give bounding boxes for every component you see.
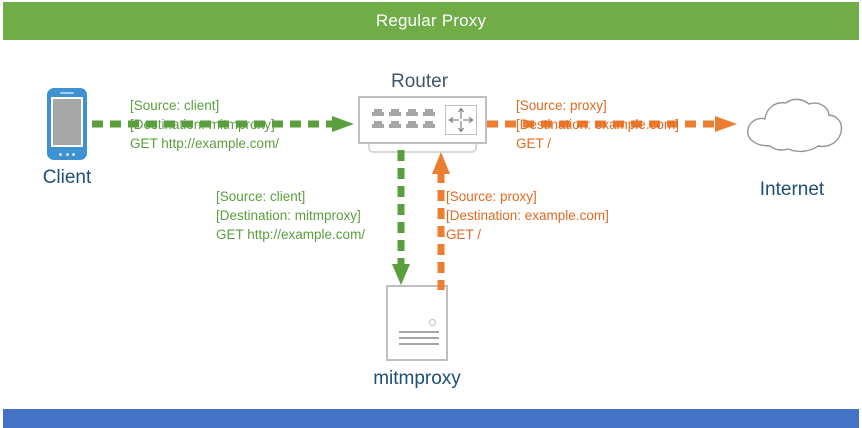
- title-banner: Regular Proxy: [3, 2, 859, 40]
- phone-screen: [51, 97, 83, 147]
- message-line-request: GET http://example.com/: [130, 134, 279, 153]
- message-line-source: [Source: client]: [216, 187, 365, 206]
- message-line-request: GET http://example.com/: [216, 225, 365, 244]
- router-direction-icon: [445, 105, 477, 135]
- phone-speaker: [60, 92, 74, 94]
- cloud-icon: [740, 96, 846, 156]
- message-line-destination: [Destination: mitmproxy]: [130, 115, 279, 134]
- node-label-mitmproxy: mitmproxy: [357, 368, 477, 390]
- document-line: [399, 331, 439, 333]
- message-client-to-router: [Source: client] [Destination: mitmproxy…: [130, 96, 279, 153]
- message-line-source: [Source: proxy]: [516, 96, 679, 115]
- document-circle: [429, 319, 436, 326]
- message-mitmproxy-to-router: [Source: proxy] [Destination: example.co…: [446, 187, 609, 244]
- message-line-source: [Source: client]: [130, 96, 279, 115]
- router-ports: [372, 109, 442, 129]
- phone-buttons: [59, 153, 75, 156]
- diagram-canvas: Regular Proxy Client Router: [0, 0, 862, 428]
- footer-banner: [3, 409, 859, 428]
- document-line: [399, 337, 439, 339]
- document-icon: [386, 285, 448, 361]
- document-line: [399, 343, 439, 345]
- page-title: Regular Proxy: [376, 11, 486, 31]
- message-router-to-internet: [Source: proxy] [Destination: example.co…: [516, 96, 679, 153]
- node-label-internet: Internet: [722, 179, 862, 201]
- router-icon: [358, 96, 487, 144]
- node-label-router: Router: [391, 71, 448, 93]
- message-line-request: GET /: [446, 225, 609, 244]
- node-label-client: Client: [7, 167, 127, 189]
- message-line-destination: [Destination: example.com]: [516, 115, 679, 134]
- message-line-source: [Source: proxy]: [446, 187, 609, 206]
- router-stand: [368, 144, 477, 153]
- message-line-destination: [Destination: example.com]: [446, 206, 609, 225]
- message-router-to-mitmproxy: [Source: client] [Destination: mitmproxy…: [216, 187, 365, 244]
- arrow-router-to-mitmproxy: [391, 150, 411, 290]
- smartphone-icon: [47, 88, 87, 160]
- message-line-destination: [Destination: mitmproxy]: [216, 206, 365, 225]
- message-line-request: GET /: [516, 134, 679, 153]
